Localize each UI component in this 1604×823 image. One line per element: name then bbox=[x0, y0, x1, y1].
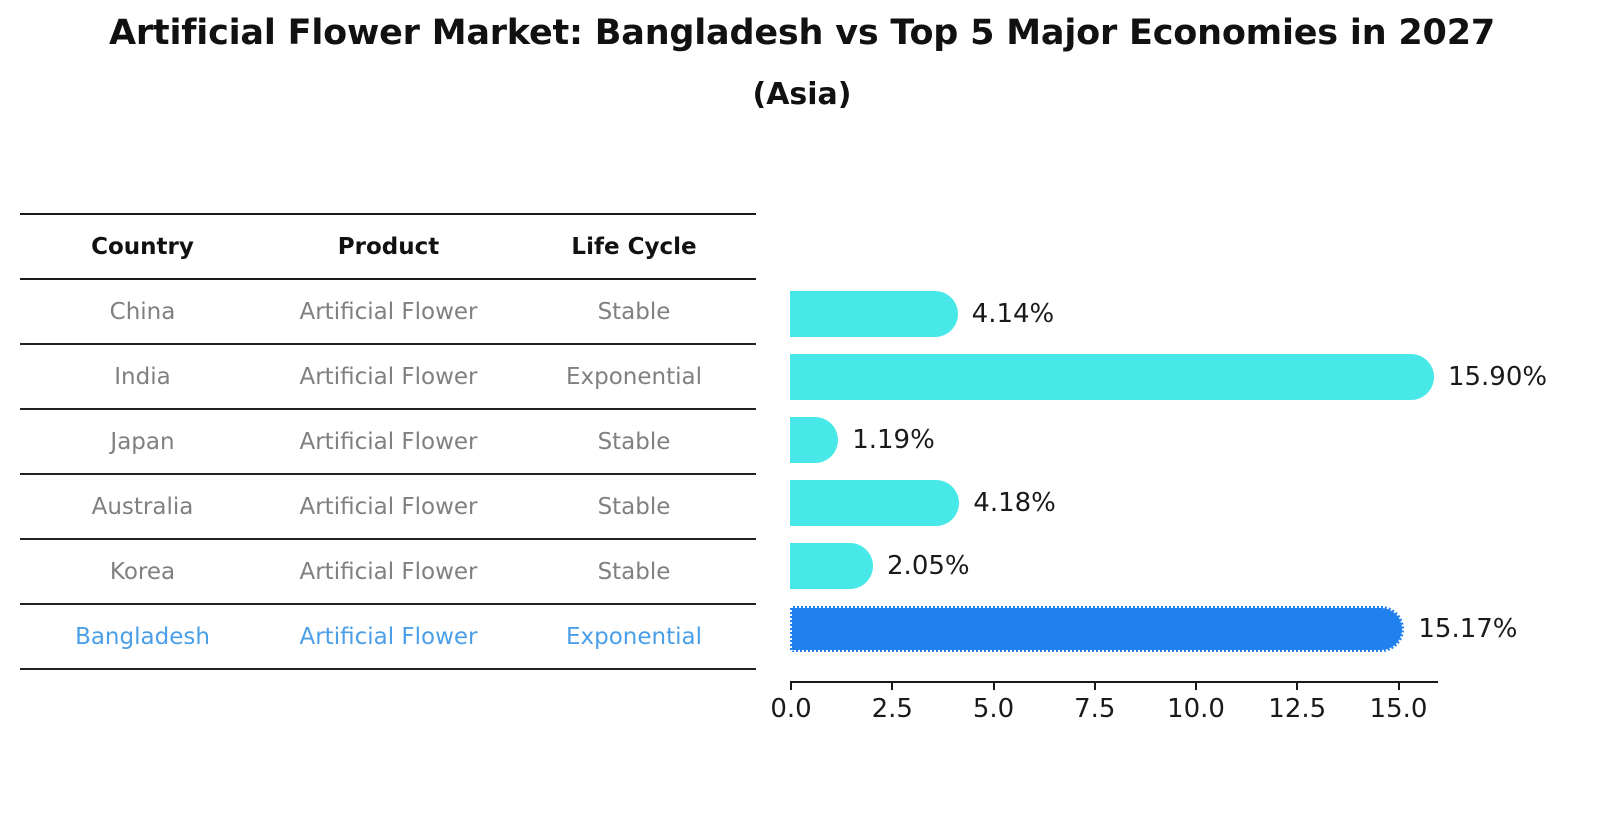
data-table: Country Product Life Cycle China Artific… bbox=[20, 213, 756, 670]
bar-chart: 4.14%15.90%1.19%4.18%2.05%15.17% bbox=[772, 213, 1604, 713]
page-title: Artificial Flower Market: Bangladesh vs … bbox=[0, 10, 1604, 56]
x-tick-mark bbox=[1296, 681, 1298, 690]
cell-life-cycle: Exponential bbox=[512, 624, 756, 650]
table-row: Japan Artificial Flower Stable bbox=[20, 410, 756, 473]
chart-page: Artificial Flower Market: Bangladesh vs … bbox=[0, 0, 1604, 823]
cell-product: Artificial Flower bbox=[265, 559, 512, 585]
cell-product: Artificial Flower bbox=[265, 299, 512, 325]
cell-country: India bbox=[20, 364, 265, 390]
bar-highlighted bbox=[790, 606, 1404, 652]
bar-row: 2.05% bbox=[772, 534, 1604, 597]
cell-country: Korea bbox=[20, 559, 265, 585]
cell-life-cycle: Stable bbox=[512, 429, 756, 455]
bar-row: 4.14% bbox=[772, 282, 1604, 345]
bar-row: 15.17% bbox=[772, 597, 1604, 660]
cell-life-cycle: Stable bbox=[512, 299, 756, 325]
cell-life-cycle: Stable bbox=[512, 559, 756, 585]
cell-country: China bbox=[20, 299, 265, 325]
bar-row: 1.19% bbox=[772, 408, 1604, 471]
column-header-life-cycle: Life Cycle bbox=[512, 234, 756, 260]
table-row: India Artificial Flower Exponential bbox=[20, 345, 756, 408]
bar-value-label: 15.17% bbox=[1418, 614, 1517, 644]
x-tick-mark bbox=[790, 681, 792, 690]
x-tick-mark bbox=[891, 681, 893, 690]
bar bbox=[790, 480, 959, 526]
bar-value-label: 4.18% bbox=[973, 488, 1056, 518]
bar bbox=[790, 291, 958, 337]
x-tick-label: 10.0 bbox=[1167, 694, 1225, 724]
x-tick-mark bbox=[1195, 681, 1197, 690]
bar-value-label: 1.19% bbox=[852, 425, 935, 455]
column-header-product: Product bbox=[265, 234, 512, 260]
table-header-row: Country Product Life Cycle bbox=[20, 215, 756, 278]
bar-row: 15.90% bbox=[772, 345, 1604, 408]
bar-row: 4.18% bbox=[772, 471, 1604, 534]
x-tick-label: 2.5 bbox=[872, 694, 913, 724]
x-tick-label: 5.0 bbox=[973, 694, 1014, 724]
cell-product: Artificial Flower bbox=[265, 494, 512, 520]
cell-country: Australia bbox=[20, 494, 265, 520]
table-row: Korea Artificial Flower Stable bbox=[20, 540, 756, 603]
x-tick-mark bbox=[1094, 681, 1096, 690]
column-header-country: Country bbox=[20, 234, 265, 260]
bar-value-label: 2.05% bbox=[887, 551, 970, 581]
x-tick-label: 12.5 bbox=[1268, 694, 1326, 724]
cell-product: Artificial Flower bbox=[265, 624, 512, 650]
bar-value-label: 4.14% bbox=[972, 299, 1055, 329]
x-axis-line bbox=[790, 681, 1438, 683]
cell-product: Artificial Flower bbox=[265, 364, 512, 390]
bar-value-label: 15.90% bbox=[1448, 362, 1547, 392]
page-subtitle: (Asia) bbox=[0, 72, 1604, 118]
table-rule-bottom bbox=[20, 668, 756, 670]
x-tick-label: 0.0 bbox=[770, 694, 811, 724]
cell-life-cycle: Exponential bbox=[512, 364, 756, 390]
table-row: China Artificial Flower Stable bbox=[20, 280, 756, 343]
x-tick-label: 15.0 bbox=[1370, 694, 1428, 724]
bar bbox=[790, 354, 1434, 400]
chart-title-block: Artificial Flower Market: Bangladesh vs … bbox=[0, 10, 1604, 118]
cell-life-cycle: Stable bbox=[512, 494, 756, 520]
bar bbox=[790, 543, 873, 589]
cell-country: Bangladesh bbox=[20, 624, 265, 650]
table-row: Australia Artificial Flower Stable bbox=[20, 475, 756, 538]
table-row-highlighted: Bangladesh Artificial Flower Exponential bbox=[20, 605, 756, 668]
x-tick-label: 7.5 bbox=[1074, 694, 1115, 724]
cell-product: Artificial Flower bbox=[265, 429, 512, 455]
bar bbox=[790, 417, 838, 463]
cell-country: Japan bbox=[20, 429, 265, 455]
x-tick-mark bbox=[1398, 681, 1400, 690]
x-tick-mark bbox=[993, 681, 995, 690]
